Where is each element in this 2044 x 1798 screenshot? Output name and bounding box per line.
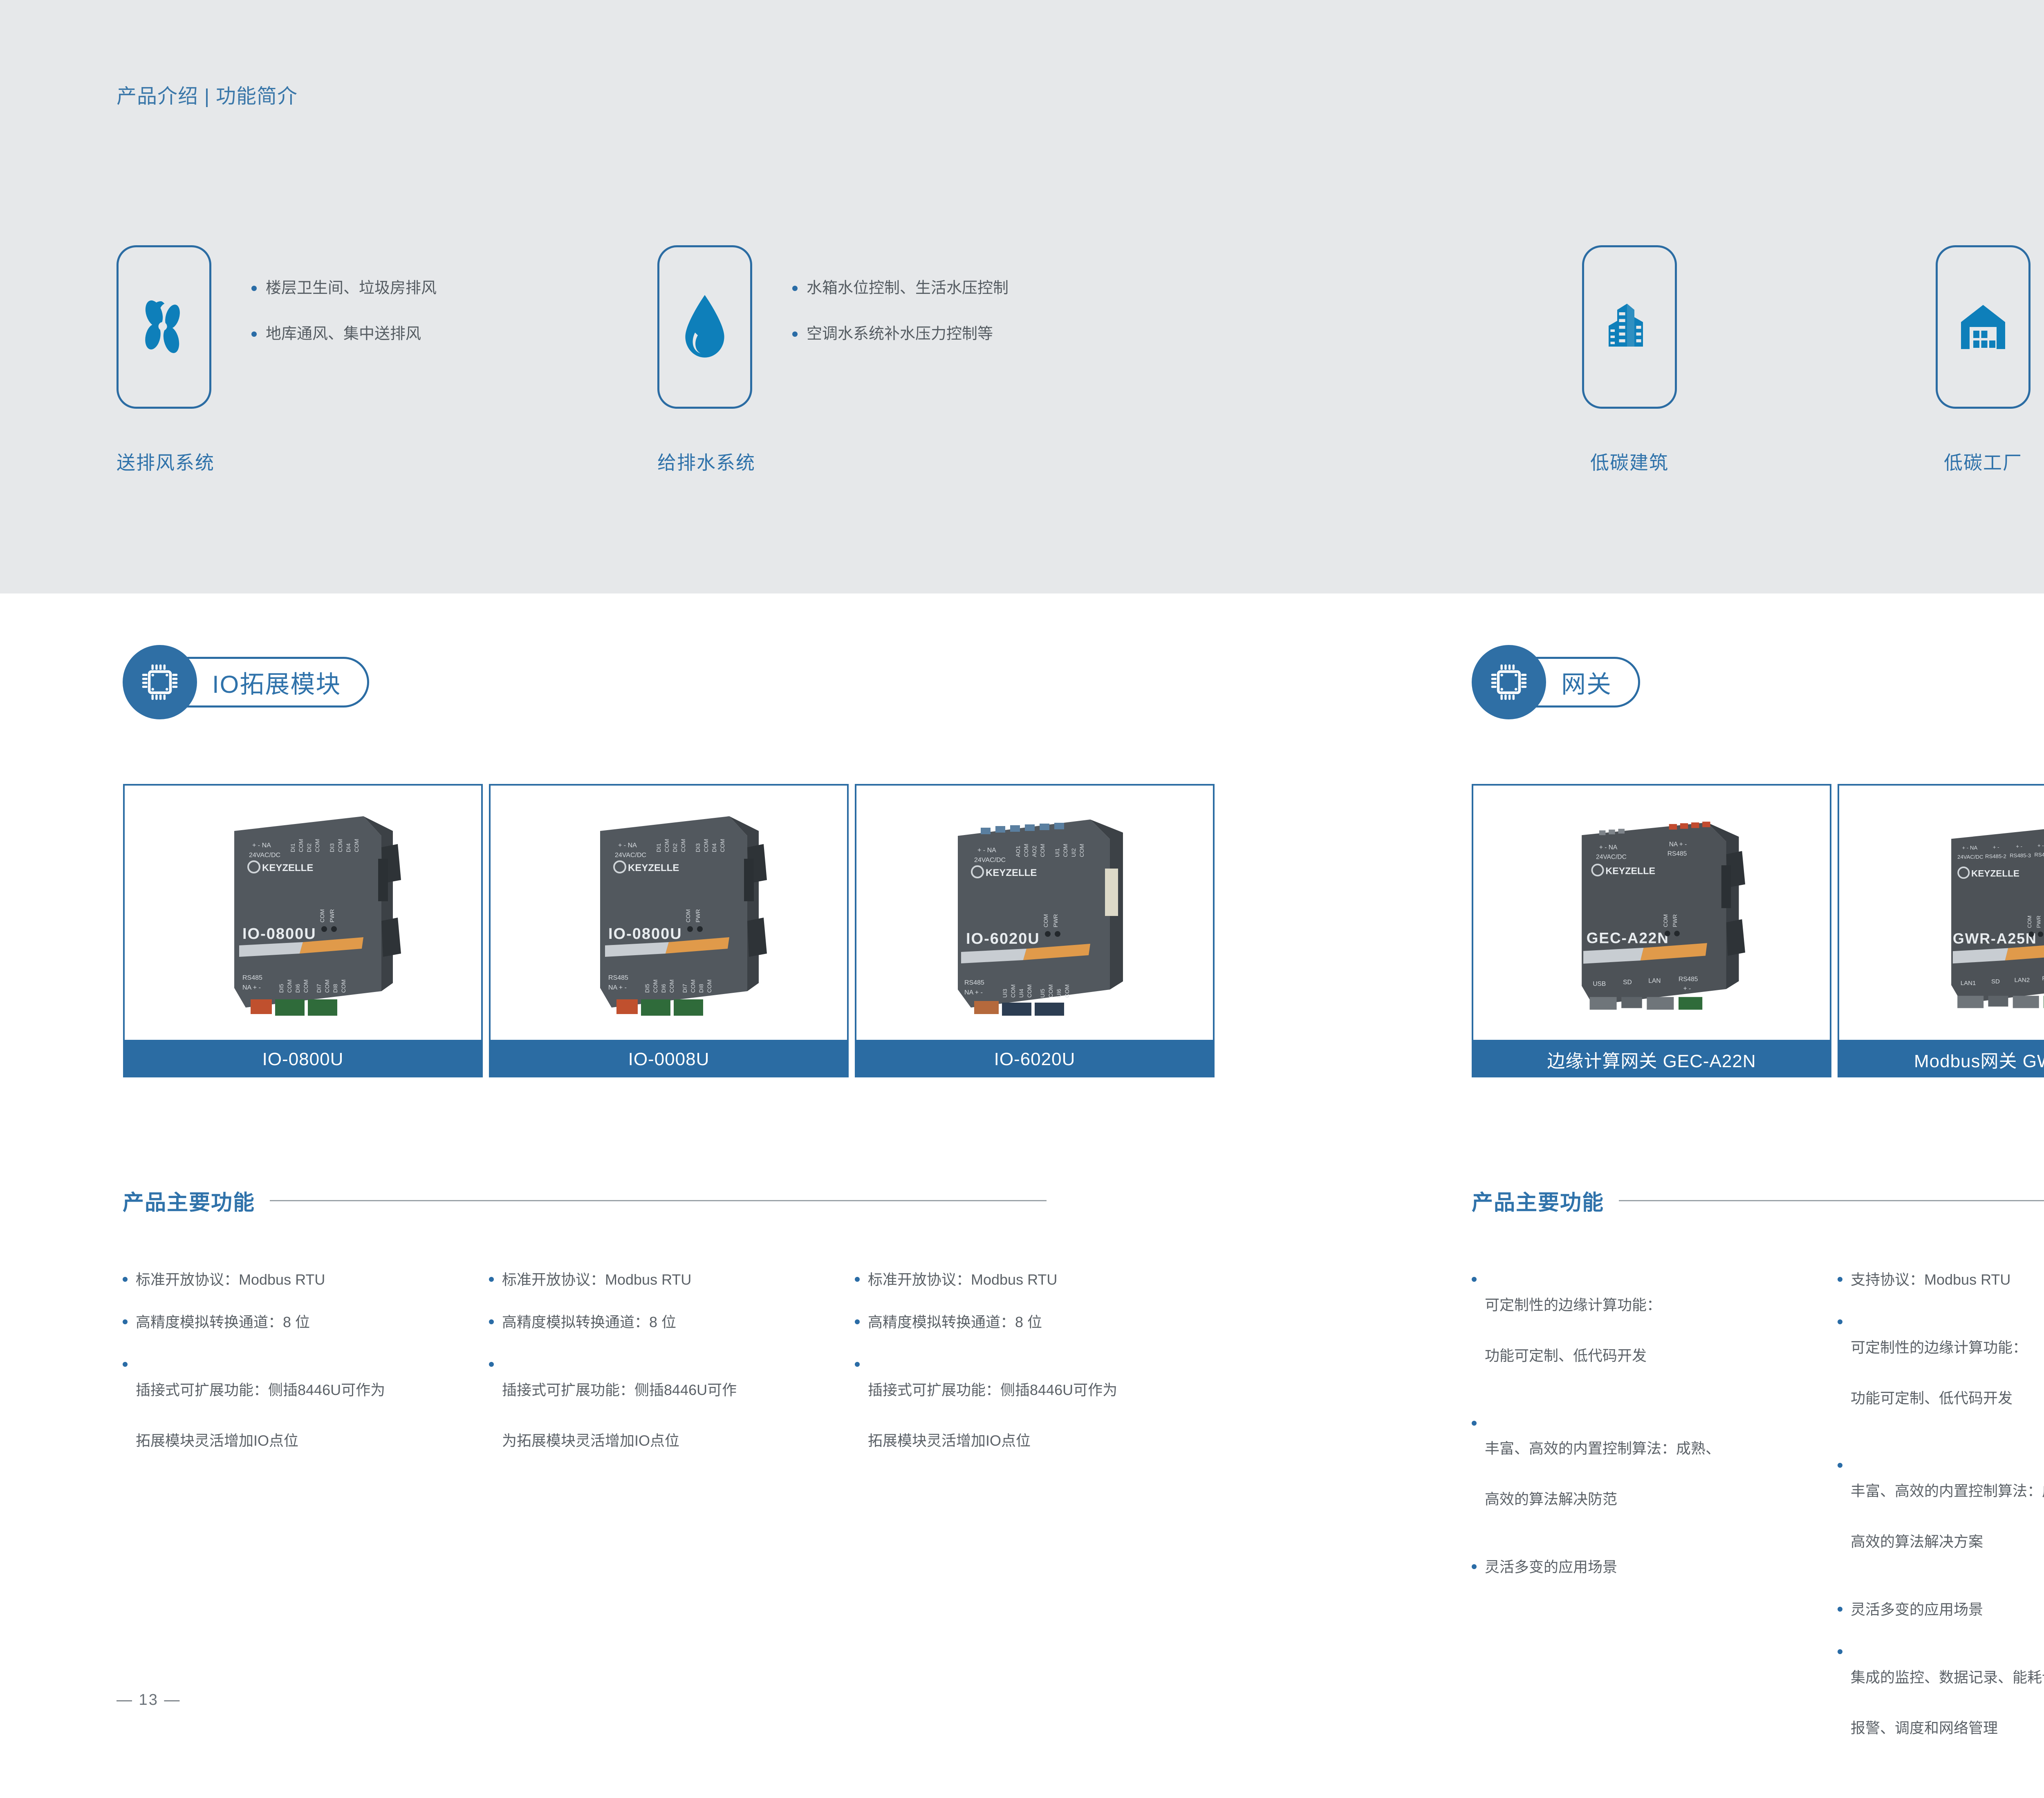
feature-column-io-0800u: 标准开放协议：Modbus RTU 高精度模拟转换通道：8 位 插接式可扩展功能… (123, 1267, 466, 1496)
scenario-icon-frame (1582, 245, 1677, 409)
feature-text: 高精度模拟转换通道：8 位 (136, 1310, 310, 1335)
product-caption: IO-0008U (489, 1041, 849, 1077)
feature-text: 丰富、高效的内置控制算法：成熟、 (1485, 1436, 1720, 1461)
bullet-dot-icon (855, 1319, 860, 1324)
feature-text: 集成的监控、数据记录、能耗计量、 (1851, 1665, 2044, 1690)
product-caption: IO-6020U (855, 1041, 1215, 1077)
svg-text:COM: COM (340, 979, 347, 993)
bullet-dot-icon (1838, 1319, 1842, 1324)
svg-text:COM: COM (685, 909, 691, 923)
bullet-dot-icon (792, 331, 798, 337)
feature-item: 插接式可扩展功能：侧插8446U可作为 拓展模块灵活增加IO点位 (855, 1352, 1198, 1479)
svg-text:UI2: UI2 (1070, 848, 1077, 857)
svg-text:COM: COM (706, 979, 713, 993)
bullet-dot-icon (855, 1277, 860, 1282)
svg-text:RS485-4: RS485-4 (2034, 852, 2044, 858)
feature-item: 插接式可扩展功能：侧插8446U可作 为拓展模块灵活增加IO点位 (489, 1352, 832, 1479)
svg-text:LAN: LAN (1648, 977, 1661, 984)
svg-text:COM: COM (652, 979, 659, 993)
office-buildings-icon (1599, 296, 1660, 358)
device-illustration: + - NA 24VAC/DC AO1 COM AO2 COM UI1 COM … (892, 798, 1178, 1027)
feature-item: 标准开放协议：Modbus RTU (489, 1267, 832, 1292)
fan-icon (133, 296, 195, 358)
feature-text-cont: 高效的算法解决防范 (1485, 1487, 1720, 1512)
feature-text-cont: 拓展模块灵活增加IO点位 (868, 1428, 1117, 1453)
scenario-icon-frame (117, 245, 211, 409)
svg-text:DI8: DI8 (698, 984, 704, 993)
svg-text:DI1: DI1 (289, 843, 296, 852)
svg-text:+ - NA: + - NA (618, 842, 637, 849)
bullet-dot-icon (1472, 1421, 1477, 1426)
svg-text:KEYZELLE: KEYZELLE (986, 867, 1037, 878)
product-card-io-6020u[interactable]: + - NA 24VAC/DC AO1 COM AO2 COM UI1 COM … (855, 784, 1215, 1077)
heading-rule (270, 1200, 1047, 1201)
feature-text: 标准开放协议：Modbus RTU (502, 1267, 691, 1292)
svg-text:COM: COM (1064, 984, 1070, 998)
feature-item: 集成的监控、数据记录、能耗计量、 报警、调度和网络管理 (1838, 1639, 2044, 1766)
bullet-dot-icon (489, 1362, 494, 1367)
device-photo-io-0800u: + - NA 24VAC/DC DI1 COM DI2 COM DI3 COM … (125, 786, 481, 1040)
chip-icon (138, 660, 182, 704)
scenario-card-low-carbon-factory: 低碳工厂 (1936, 245, 2031, 475)
feature-text: 标准开放协议：Modbus RTU (136, 1267, 325, 1292)
page-number-left: — 13 — (117, 1691, 181, 1709)
svg-text:+ - NA: + - NA (252, 842, 271, 849)
svg-text:COM: COM (1078, 844, 1085, 857)
device-illustration: + - NA 24VAC/DC NA + - RS485 KEYZELLE GE… (1517, 802, 1786, 1024)
svg-text:DI4: DI4 (711, 843, 717, 852)
svg-text:KEYZELLE: KEYZELLE (1605, 865, 1655, 876)
brochure-page: 产品介绍 | 功能简介 产品介绍 | 功能简介 送排风系统 (0, 0, 2044, 1798)
svg-text:RS485: RS485 (1679, 976, 1698, 983)
bullet-dot-icon (1838, 1607, 1842, 1612)
svg-text:RS485: RS485 (1667, 850, 1687, 857)
badge-title: IO拓展模块 (212, 665, 341, 700)
svg-text:+ -: + - (1683, 985, 1691, 992)
scenario-card-ventilation: 送排风系统 楼层卫生间、垃圾房排风 地库通风、集中送排风 (117, 245, 215, 475)
product-caption: 边缘计算网关 GEC-A22N (1472, 1041, 1831, 1077)
svg-text:DI2: DI2 (672, 843, 678, 852)
svg-text:DI8: DI8 (332, 984, 338, 993)
product-image-frame: + - NA 24VAC/DC AO1 COM AO2 COM UI1 COM … (855, 784, 1215, 1041)
svg-text:USB: USB (1593, 981, 1606, 987)
svg-text:COM: COM (719, 839, 726, 852)
svg-text:24VAC/DC: 24VAC/DC (1596, 853, 1627, 860)
svg-text:KEYZELLE: KEYZELLE (628, 862, 679, 873)
device-illustration: + - NA 24VAC/DC DI1 COM DI2 COM DI3 COM … (160, 798, 446, 1027)
svg-text:24VAC/DC: 24VAC/DC (974, 857, 1006, 864)
svg-text:DI3: DI3 (329, 843, 335, 852)
bullet-dot-icon (123, 1277, 128, 1282)
bullet-dot-icon (855, 1362, 860, 1367)
svg-text:COM: COM (314, 839, 320, 852)
svg-text:DI3: DI3 (695, 843, 701, 852)
feature-text-cont: 报警、调度和网络管理 (1851, 1715, 2044, 1741)
water-drop-icon (676, 292, 733, 362)
svg-text:NA + -: NA + - (608, 984, 627, 991)
scenario-label: 给排水系统 (657, 448, 755, 475)
feature-item: 高精度模拟转换通道：8 位 (123, 1310, 466, 1335)
svg-text:COM: COM (663, 839, 670, 852)
svg-text:KEYZELLE: KEYZELLE (262, 862, 313, 873)
svg-text:LAN1: LAN1 (1961, 980, 1976, 987)
svg-text:COM: COM (1047, 984, 1054, 998)
feature-text: 灵活多变的应用场景 (1851, 1597, 1983, 1622)
svg-text:NA + -: NA + - (242, 984, 261, 991)
product-image-frame: + - NA+ - + -+ -+ - 24VAC/DCRS485-2 RS48… (1838, 784, 2044, 1041)
bullet-dot-icon (1838, 1649, 1842, 1654)
svg-text:COM: COM (1023, 844, 1029, 857)
feature-text-cont: 功能可定制、低代码开发 (1485, 1343, 1661, 1368)
scenario-card-low-carbon-building: 低碳建筑 (1582, 245, 1677, 475)
feature-text-cont: 高效的算法解决方案 (1851, 1529, 2044, 1554)
svg-text:IO-6020U: IO-6020U (966, 930, 1040, 947)
product-card-io-0008u[interactable]: + - NA 24VAC/DC DI1 COM DI2 COM DI3 COM … (489, 784, 849, 1077)
bullet-dot-icon (251, 286, 257, 291)
svg-text:KEYZELLE: KEYZELLE (1971, 869, 2019, 879)
bullet-dot-icon (489, 1319, 494, 1324)
bullet-dot-icon (1838, 1463, 1842, 1468)
product-image-frame: + - NA 24VAC/DC DI1 COM DI2 COM DI3 COM … (489, 784, 849, 1041)
svg-text:NA + -: NA + - (1669, 841, 1687, 848)
svg-text:UI5: UI5 (1039, 989, 1046, 998)
factory-icon (1952, 296, 2014, 358)
svg-text:DI2: DI2 (306, 843, 312, 852)
feature-text: 丰富、高效的内置控制算法：成熟、 (1851, 1478, 2044, 1504)
svg-text:UI3: UI3 (1002, 989, 1008, 998)
svg-text:RS485-3: RS485-3 (2010, 852, 2031, 858)
svg-text:COM: COM (337, 839, 343, 852)
scenario-card-water-supply: 给排水系统 水箱水位控制、生活水压控制 空调水系统补水压力控制等 (657, 245, 755, 475)
svg-text:COM: COM (286, 979, 293, 993)
svg-text:DI4: DI4 (345, 843, 352, 852)
feature-text: 灵活多变的应用场景 (1485, 1554, 1617, 1580)
chip-icon (1487, 660, 1531, 704)
svg-text:COM: COM (319, 909, 325, 923)
svg-text:DI6: DI6 (294, 984, 301, 993)
scenario-label: 送排风系统 (117, 448, 215, 475)
svg-text:COM: COM (1062, 844, 1069, 857)
feature-column-gec-a22n: 可定制性的边缘计算功能： 功能可定制、低代码开发 丰富、高效的内置控制算法：成熟… (1472, 1267, 1815, 1597)
svg-text:PWR: PWR (329, 909, 335, 923)
feature-text: 插接式可扩展功能：侧插8446U可作 (502, 1377, 737, 1403)
svg-text:COM: COM (668, 979, 675, 993)
feature-item: 高精度模拟转换通道：8 位 (489, 1310, 832, 1335)
svg-text:24VAC/DC: 24VAC/DC (615, 852, 646, 859)
product-card-io-0800u[interactable]: + - NA 24VAC/DC DI1 COM DI2 COM DI3 COM … (123, 784, 483, 1077)
svg-text:UI1: UI1 (1054, 848, 1060, 857)
device-photo-io-0008u: + - NA 24VAC/DC DI1 COM DI2 COM DI3 COM … (491, 786, 847, 1040)
scenario-bullet: 空调水系统补水压力控制等 (792, 326, 1009, 342)
svg-text:24VAC/DC: 24VAC/DC (1957, 854, 1983, 860)
scenario-bullet: 地库通风、集中送排风 (251, 326, 437, 342)
svg-text:PWR: PWR (695, 909, 701, 923)
svg-text:PWR: PWR (2035, 916, 2042, 928)
bullet-dot-icon (1472, 1564, 1477, 1569)
feature-item: 灵活多变的应用场景 (1838, 1597, 2044, 1622)
feature-item: 支持协议：Modbus RTU (1838, 1267, 2044, 1292)
svg-text:UI4: UI4 (1018, 989, 1024, 998)
svg-text:+ -: + - (2016, 843, 2022, 849)
product-caption: IO-0800U (123, 1041, 483, 1077)
svg-text:DI7: DI7 (681, 984, 688, 993)
svg-text:COM: COM (1042, 914, 1049, 927)
feature-text: 高精度模拟转换通道：8 位 (502, 1310, 676, 1335)
section-badge-io-modules: IO拓展模块 (123, 645, 369, 719)
product-card-gec-a22n[interactable]: + - NA 24VAC/DC NA + - RS485 KEYZELLE GE… (1472, 784, 1831, 1077)
feature-item: 标准开放协议：Modbus RTU (123, 1267, 466, 1292)
product-image-frame: + - NA 24VAC/DC NA + - RS485 KEYZELLE GE… (1472, 784, 1831, 1041)
bullet-dot-icon (123, 1362, 128, 1367)
feature-text: 可定制性的边缘计算功能： (1485, 1292, 1661, 1318)
svg-text:COM: COM (1663, 914, 1669, 927)
scenario-icon-frame (657, 245, 752, 409)
scenario-label: 低碳建筑 (1582, 448, 1677, 475)
scenario-bullet-text: 水箱水位控制、生活水压控制 (807, 280, 1009, 296)
svg-text:DI5: DI5 (644, 984, 650, 993)
scenario-bullet: 楼层卫生间、垃圾房排风 (251, 280, 437, 296)
scenario-bullet: 水箱水位控制、生活水压控制 (792, 280, 1009, 296)
badge-circle (123, 645, 197, 719)
device-illustration: + - NA+ - + -+ -+ - 24VAC/DCRS485-2 RS48… (1887, 804, 2044, 1021)
svg-text:COM: COM (680, 839, 686, 852)
svg-text:DI6: DI6 (660, 984, 667, 993)
heading-rule (1619, 1200, 2044, 1201)
svg-text:PWR: PWR (1052, 914, 1059, 927)
feature-item: 可定制性的边缘计算功能： 功能可定制、低代码开发 (1472, 1267, 1815, 1394)
badge-title: 网关 (1561, 665, 1612, 700)
running-head-left: 产品介绍 | 功能简介 (117, 80, 298, 109)
feature-text: 插接式可扩展功能：侧插8446U可作为 (868, 1377, 1117, 1403)
feature-text-cont: 为拓展模块灵活增加IO点位 (502, 1428, 737, 1453)
feature-item: 丰富、高效的内置控制算法：成熟、 高效的算法解决防范 (1472, 1411, 1815, 1538)
svg-text:COM: COM (1010, 984, 1016, 998)
svg-text:COM: COM (2026, 916, 2033, 928)
svg-text:SD: SD (1991, 978, 2000, 985)
svg-text:RS485: RS485 (608, 974, 628, 981)
svg-text:+ -: + - (2037, 842, 2044, 849)
bullet-dot-icon (792, 286, 798, 291)
feature-item: 高精度模拟转换通道：8 位 (855, 1310, 1198, 1335)
svg-text:COM: COM (1039, 844, 1046, 857)
svg-text:COM: COM (690, 979, 696, 993)
feature-text-cont: 拓展模块灵活增加IO点位 (136, 1428, 385, 1453)
feature-text: 标准开放协议：Modbus RTU (868, 1267, 1057, 1292)
svg-text:RS485: RS485 (964, 979, 984, 986)
svg-text:SD: SD (1623, 979, 1632, 986)
functions-heading-gateway: 产品主要功能 (1472, 1185, 2044, 1216)
feature-item: 标准开放协议：Modbus RTU (855, 1267, 1198, 1292)
feature-text: 支持协议：Modbus RTU (1851, 1267, 2010, 1292)
svg-text:COM: COM (303, 979, 309, 993)
bullet-dot-icon (251, 331, 257, 337)
bullet-dot-icon (489, 1277, 494, 1282)
feature-column-io-6020u: 标准开放协议：Modbus RTU 高精度模拟转换通道：8 位 插接式可扩展功能… (855, 1267, 1198, 1496)
svg-text:24VAC/DC: 24VAC/DC (249, 852, 280, 859)
svg-text:NA + -: NA + - (964, 989, 983, 996)
functions-heading-io: 产品主要功能 (123, 1185, 1215, 1216)
product-caption: Modbus网关 GWR-A25N (1838, 1041, 2044, 1077)
svg-text:DI1: DI1 (655, 843, 662, 852)
svg-text:AO1: AO1 (1015, 846, 1021, 857)
feature-text-cont: 功能可定制、低代码开发 (1851, 1386, 2027, 1411)
feature-item: 插接式可扩展功能：侧插8446U可作为 拓展模块灵活增加IO点位 (123, 1352, 466, 1479)
section-badge-gateway: 网关 (1472, 645, 1640, 719)
svg-text:DI7: DI7 (316, 984, 322, 993)
feature-item: 可定制性的边缘计算功能： 功能可定制、低代码开发 (1838, 1310, 2044, 1436)
svg-text:IO-0800U: IO-0800U (608, 925, 682, 943)
svg-text:+ - NA: + - NA (1599, 844, 1618, 851)
functions-heading-text: 产品主要功能 (1472, 1185, 1604, 1216)
scenario-label: 低碳工厂 (1936, 448, 2031, 475)
feature-text: 可定制性的边缘计算功能： (1851, 1335, 2027, 1360)
badge-circle (1472, 645, 1546, 719)
svg-text:GEC-A22N: GEC-A22N (1587, 929, 1669, 946)
svg-text:COM: COM (353, 839, 360, 852)
svg-text:COM: COM (298, 839, 304, 852)
svg-text:UI6: UI6 (1056, 989, 1062, 998)
functions-heading-text: 产品主要功能 (123, 1185, 255, 1216)
svg-text:RS485-2: RS485-2 (1985, 853, 2006, 859)
svg-text:PWR: PWR (1672, 914, 1678, 927)
svg-text:+ - NA: + - NA (977, 847, 996, 854)
scenario-bullet-text: 地库通风、集中送排风 (266, 326, 421, 342)
feature-column-gwr-a25n: 支持协议：Modbus RTU 可定制性的边缘计算功能： 功能可定制、低代码开发… (1838, 1267, 2044, 1783)
feature-text: 插接式可扩展功能：侧插8446U可作为 (136, 1377, 385, 1403)
scenario-bullet-text: 楼层卫生间、垃圾房排风 (266, 280, 437, 296)
svg-text:COM: COM (703, 839, 709, 852)
product-image-frame: + - NA 24VAC/DC DI1 COM DI2 COM DI3 COM … (123, 784, 483, 1041)
product-card-gwr-a25n[interactable]: + - NA+ - + -+ -+ - 24VAC/DCRS485-2 RS48… (1838, 784, 2044, 1077)
feature-item: 灵活多变的应用场景 (1472, 1554, 1815, 1580)
svg-text:DI5: DI5 (278, 984, 285, 993)
svg-text:AO2: AO2 (1031, 846, 1038, 857)
svg-text:COM: COM (1026, 984, 1033, 998)
svg-text:COM: COM (324, 979, 330, 993)
scenario-bullets: 楼层卫生间、垃圾房排风 地库通风、集中送排风 (251, 280, 437, 342)
scenario-icon-frame (1936, 245, 2031, 409)
svg-text:GWR-A25N: GWR-A25N (1953, 930, 2037, 947)
svg-text:+ -: + - (1993, 844, 1999, 850)
scenario-card-row: 送排风系统 楼层卫生间、垃圾房排风 地库通风、集中送排风 给排水 (0, 245, 2044, 507)
bullet-dot-icon (123, 1319, 128, 1324)
svg-text:RS485: RS485 (242, 974, 262, 981)
svg-text:+ - NA: + - NA (1962, 845, 1977, 851)
device-illustration: + - NA 24VAC/DC DI1 COM DI2 COM DI3 COM … (526, 798, 812, 1027)
device-photo-gec-a22n: + - NA 24VAC/DC NA + - RS485 KEYZELLE GE… (1473, 786, 1830, 1040)
svg-text:LAN2: LAN2 (2014, 976, 2030, 983)
device-photo-gwr-a25n: + - NA+ - + -+ -+ - 24VAC/DCRS485-2 RS48… (1839, 786, 2044, 1040)
feature-item: 丰富、高效的内置控制算法：成熟、 高效的算法解决方案 (1838, 1453, 2044, 1580)
feature-column-io-0008u: 标准开放协议：Modbus RTU 高精度模拟转换通道：8 位 插接式可扩展功能… (489, 1267, 832, 1496)
svg-text:IO-0800U: IO-0800U (242, 925, 316, 943)
svg-text:RS485-1: RS485-1 (2042, 975, 2044, 982)
scenario-bullet-text: 空调水系统补水压力控制等 (807, 326, 993, 342)
bullet-dot-icon (1472, 1277, 1477, 1282)
bullet-dot-icon (1838, 1277, 1842, 1282)
device-photo-io-6020u: + - NA 24VAC/DC AO1 COM AO2 COM UI1 COM … (856, 786, 1213, 1040)
feature-text: 高精度模拟转换通道：8 位 (868, 1310, 1042, 1335)
scenario-bullets: 水箱水位控制、生活水压控制 空调水系统补水压力控制等 (792, 280, 1009, 342)
